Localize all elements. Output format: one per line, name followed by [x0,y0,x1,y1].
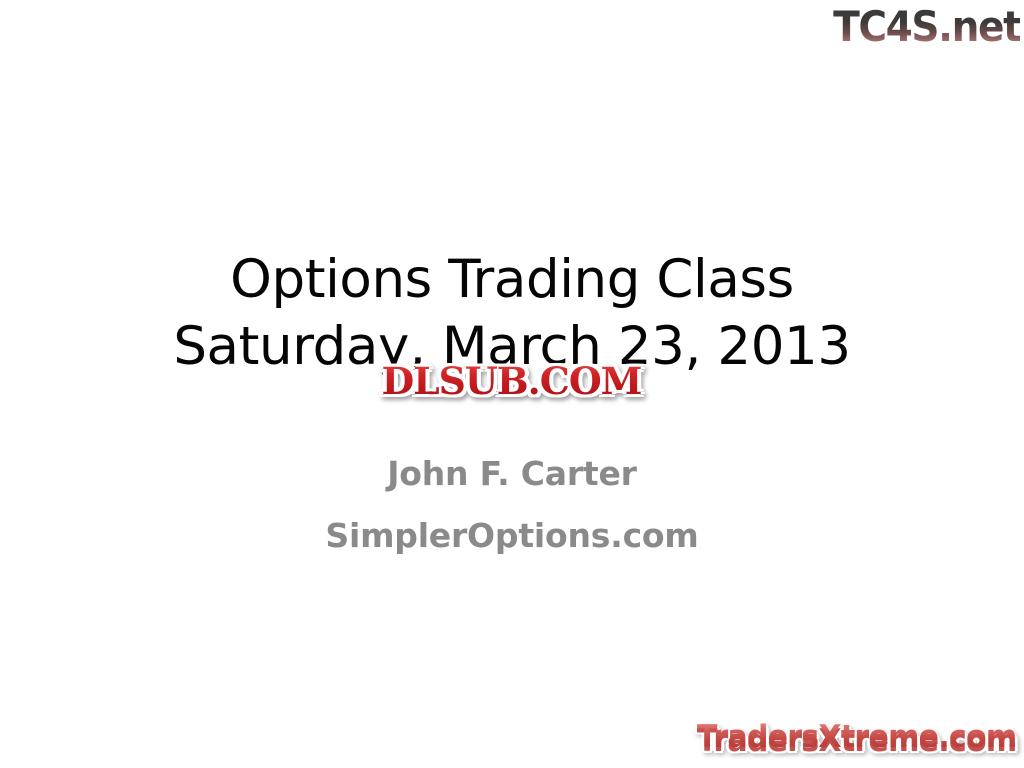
presenter-name: John F. Carter [0,443,1024,505]
dlsub-watermark: DLSUB.COM DLSUB.COM [363,358,659,404]
brand-logo-tradersxtreme-outline: TradersXtreme.com [696,724,1016,758]
brand-logo-tc4s-text: TC4S.net [833,5,1020,49]
presenter-website: SimplerOptions.com [0,505,1024,567]
presentation-slide: TC4S.net Options Trading Class Saturday,… [0,0,1024,768]
slide-title-line-1: Options Trading Class [0,246,1024,313]
dlsub-watermark-outline: DLSUB.COM [381,361,641,401]
brand-logo-tc4s: TC4S.net [819,2,1020,52]
brand-logo-tradersxtreme: TradersXtreme.com TradersXtreme.com [687,720,1016,762]
slide-subtitle: John F. Carter SimplerOptions.com [0,443,1024,567]
